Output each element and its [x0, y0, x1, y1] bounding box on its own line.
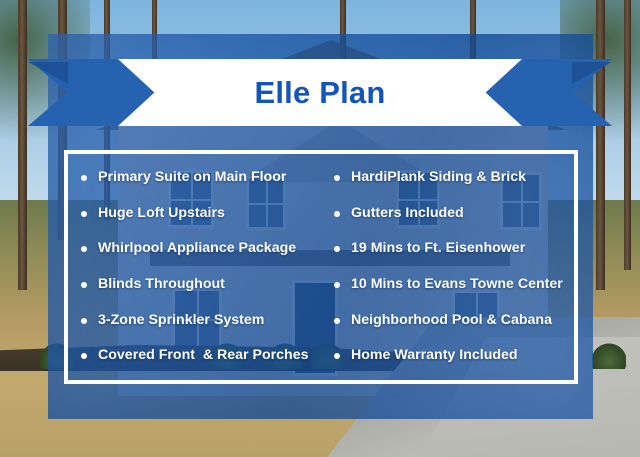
bullet-dot-icon — [334, 282, 340, 288]
bullet-dot-icon — [81, 246, 87, 252]
list-item: Primary Suite on Main Floor — [76, 160, 321, 196]
title-ribbon: Elle Plan — [0, 59, 640, 126]
page-title: Elle Plan — [254, 77, 385, 108]
features-column-left: Primary Suite on Main Floor Huge Loft Up… — [68, 154, 321, 380]
pine-tree-1 — [18, 0, 27, 290]
features-frame: Primary Suite on Main Floor Huge Loft Up… — [64, 150, 578, 384]
list-item: 10 Mins to Evans Towne Center — [329, 267, 574, 303]
feature-label: Covered Front & Rear Porches — [98, 348, 309, 364]
bullet-dot-icon — [334, 211, 340, 217]
list-item: 3-Zone Sprinkler System — [76, 303, 321, 339]
bullet-dot-icon — [334, 175, 340, 181]
ribbon-face: Elle Plan — [118, 59, 522, 126]
feature-label: Neighborhood Pool & Cabana — [351, 313, 552, 329]
feature-label: Blinds Throughout — [98, 277, 225, 293]
list-item: Whirlpool Appliance Package — [76, 231, 321, 267]
list-item: 19 Mins to Ft. Eisenhower — [329, 231, 574, 267]
bullet-dot-icon — [334, 318, 340, 324]
feature-label: 3-Zone Sprinkler System — [98, 313, 264, 329]
bullet-dot-icon — [81, 175, 87, 181]
pine-tree-7 — [596, 0, 605, 290]
list-item: HardiPlank Siding & Brick — [329, 160, 574, 196]
list-item: Home Warranty Included — [329, 338, 574, 374]
feature-label: HardiPlank Siding & Brick — [351, 170, 526, 186]
feature-label: 10 Mins to Evans Towne Center — [351, 277, 563, 293]
feature-label: Home Warranty Included — [351, 348, 518, 364]
list-item: Blinds Throughout — [76, 267, 321, 303]
bullet-dot-icon — [81, 318, 87, 324]
bullet-dot-icon — [81, 211, 87, 217]
pine-tree-8 — [624, 0, 631, 270]
list-item: Gutters Included — [329, 196, 574, 232]
list-item: Covered Front & Rear Porches — [76, 338, 321, 374]
plan-flyer: Elle Plan Primary Suite on Main Floor Hu… — [0, 0, 640, 457]
features-column-right: HardiPlank Siding & Brick Gutters Includ… — [321, 154, 574, 380]
feature-label: Primary Suite on Main Floor — [98, 170, 286, 186]
list-item: Neighborhood Pool & Cabana — [329, 303, 574, 339]
feature-label: 19 Mins to Ft. Eisenhower — [351, 241, 525, 257]
list-item: Huge Loft Upstairs — [76, 196, 321, 232]
feature-label: Gutters Included — [351, 206, 464, 222]
feature-label: Whirlpool Appliance Package — [98, 241, 296, 257]
bullet-dot-icon — [81, 353, 87, 359]
feature-label: Huge Loft Upstairs — [98, 206, 225, 222]
bullet-dot-icon — [334, 353, 340, 359]
shrub-5 — [592, 343, 626, 369]
bullet-dot-icon — [334, 246, 340, 252]
bullet-dot-icon — [81, 282, 87, 288]
